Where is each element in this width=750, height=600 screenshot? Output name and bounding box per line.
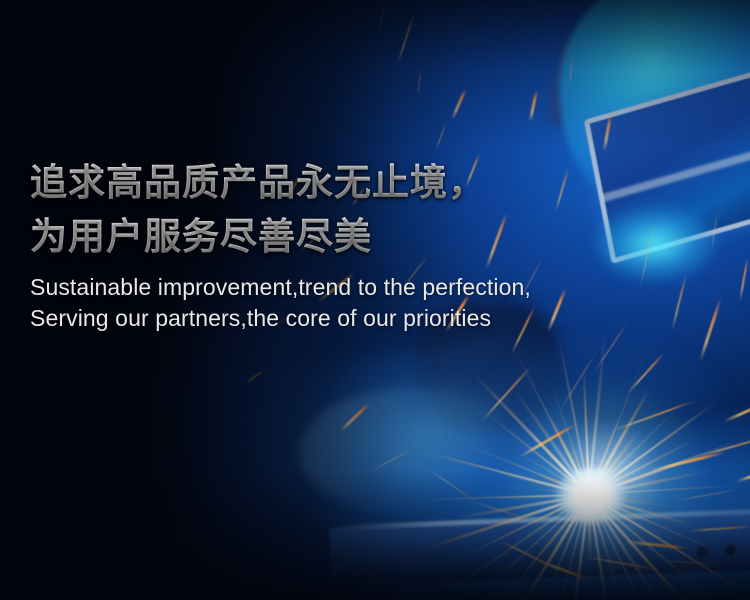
headline-cn-line-1: 追求高品质产品永无止境， (30, 156, 710, 210)
spark (451, 88, 467, 120)
spark (397, 13, 415, 63)
spark (377, 0, 387, 36)
banner-text-block: 追求高品质产品永无止境， 为用户服务尽善尽美 Sustainable impro… (30, 156, 710, 334)
welding-arc-core (555, 468, 627, 524)
spark (435, 122, 447, 151)
spark (529, 90, 538, 122)
subtitle-en-line-1: Sustainable improvement,trend to the per… (30, 272, 710, 303)
subtitle-en-line-2: Serving our partners,the core of our pri… (30, 303, 710, 334)
welding-hero-banner: 追求高品质产品永无止境， 为用户服务尽善尽美 Sustainable impro… (0, 0, 750, 600)
headline-cn-line-2: 为用户服务尽善尽美 (30, 210, 710, 264)
spark (739, 258, 749, 302)
spark (417, 69, 421, 97)
